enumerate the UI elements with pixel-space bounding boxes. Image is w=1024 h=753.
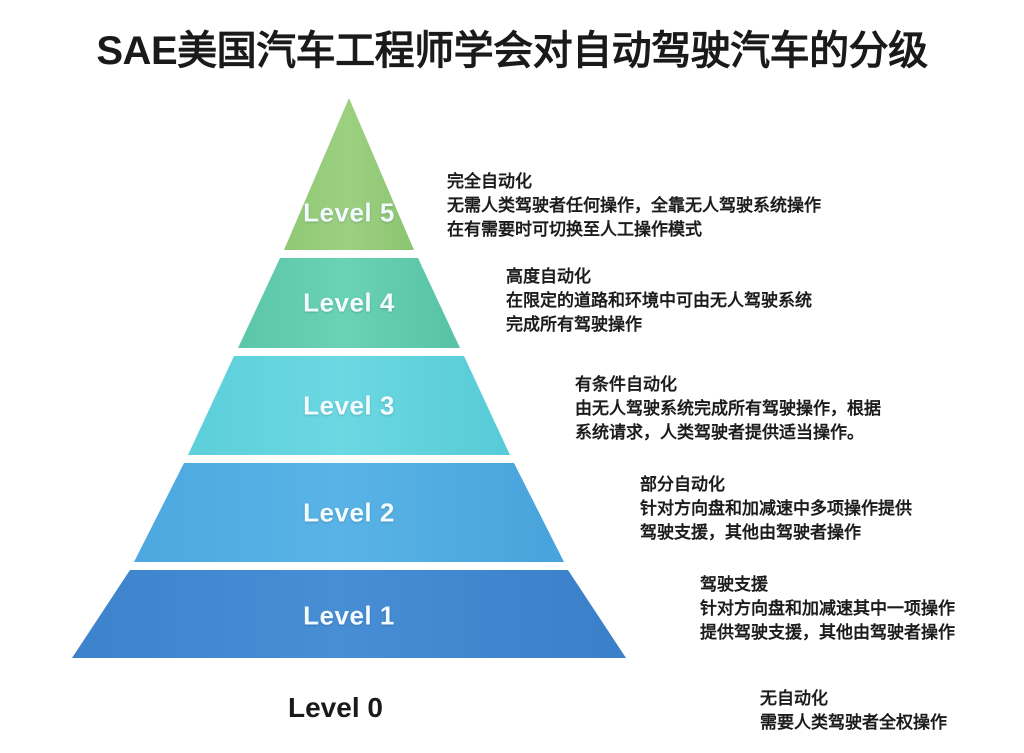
- description-line-level-4-1: 在限定的道路和环境中可由无人驾驶系统: [506, 289, 812, 313]
- pyramid-label-level-5: Level 5: [303, 198, 395, 229]
- description-heading-level-1: 驾驶支援: [700, 573, 955, 597]
- description-line-level-4-2: 完成所有驾驶操作: [506, 313, 812, 337]
- description-level-4: 高度自动化 在限定的道路和环境中可由无人驾驶系统 完成所有驾驶操作: [506, 265, 812, 337]
- page-title: SAE美国汽车工程师学会对自动驾驶汽车的分级: [0, 18, 1024, 76]
- description-line-level-3-1: 由无人驾驶系统完成所有驾驶操作，根据: [575, 397, 881, 421]
- pyramid-label-level-2: Level 2: [303, 498, 395, 529]
- description-level-1: 驾驶支援 针对方向盘和加减速其中一项操作 提供驾驶支援，其他由驾驶者操作: [700, 573, 955, 645]
- description-heading-level-0: 无自动化: [760, 687, 947, 711]
- description-heading-level-2: 部分自动化: [640, 473, 912, 497]
- pyramid-label-level-1: Level 1: [303, 601, 395, 632]
- pyramid-label-level-4: Level 4: [303, 288, 395, 319]
- description-line-level-0-1: 需要人类驾驶者全权操作: [760, 711, 947, 735]
- description-line-level-2-2: 驾驶支援，其他由驾驶者操作: [640, 521, 912, 545]
- pyramid-label-level-3: Level 3: [303, 391, 395, 422]
- description-level-3: 有条件自动化 由无人驾驶系统完成所有驾驶操作，根据 系统请求，人类驾驶者提供适当…: [575, 373, 881, 445]
- description-level-0: 无自动化 需要人类驾驶者全权操作: [760, 687, 947, 735]
- pyramid-label-level-0: Level 0: [288, 692, 383, 724]
- description-level-5: 完全自动化 无需人类驾驶者任何操作，全靠无人驾驶系统操作 在有需要时可切换至人工…: [447, 170, 821, 242]
- description-line-level-5-1: 无需人类驾驶者任何操作，全靠无人驾驶系统操作: [447, 194, 821, 218]
- description-heading-level-3: 有条件自动化: [575, 373, 881, 397]
- infographic-canvas: SAE美国汽车工程师学会对自动驾驶汽车的分级: [0, 0, 1024, 753]
- description-line-level-1-2: 提供驾驶支援，其他由驾驶者操作: [700, 621, 955, 645]
- description-line-level-2-1: 针对方向盘和加减速中多项操作提供: [640, 497, 912, 521]
- description-heading-level-4: 高度自动化: [506, 265, 812, 289]
- description-line-level-1-1: 针对方向盘和加减速其中一项操作: [700, 597, 955, 621]
- description-line-level-5-2: 在有需要时可切换至人工操作模式: [447, 218, 821, 242]
- description-heading-level-5: 完全自动化: [447, 170, 821, 194]
- description-line-level-3-2: 系统请求，人类驾驶者提供适当操作。: [575, 421, 881, 445]
- description-level-2: 部分自动化 针对方向盘和加减速中多项操作提供 驾驶支援，其他由驾驶者操作: [640, 473, 912, 545]
